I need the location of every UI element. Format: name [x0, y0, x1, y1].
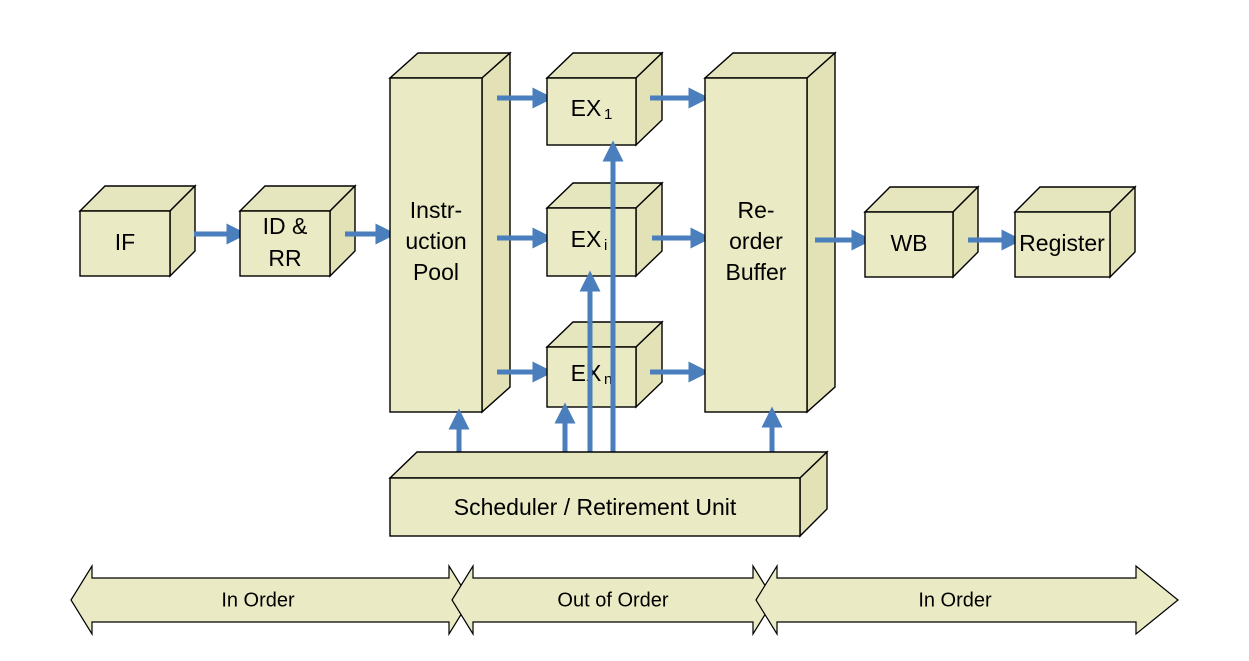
stage-box-wb[interactable]: WB: [865, 187, 978, 277]
band-middle-label: Out of Order: [557, 589, 668, 611]
pipeline-diagram: IF ID & RR Instr- uction Pool EX 1 EX: [0, 0, 1249, 661]
instr-pool-label-line-2: uction: [405, 228, 466, 254]
order-band-segment-in-order-left: In Order: [71, 566, 470, 634]
ex-1-label: EX: [571, 95, 602, 121]
band-left-label: In Order: [221, 589, 295, 611]
stage-box-if[interactable]: IF: [80, 186, 195, 276]
ex-1-label-subscript: 1: [604, 106, 612, 123]
wb-label: WB: [890, 230, 927, 256]
pipeline-diagram-canvas: IF ID & RR Instr- uction Pool EX 1 EX: [0, 0, 1249, 661]
stage-box-id-rr[interactable]: ID & RR: [240, 186, 355, 276]
instr-pool-side-face: [482, 53, 510, 412]
register-label: Register: [1019, 230, 1105, 256]
ex-i-label: EX: [571, 226, 602, 252]
instr-pool-label-line-1: Instr-: [410, 197, 462, 223]
band-right-label: In Order: [918, 589, 992, 611]
ex-i-label-subscript: i: [604, 237, 607, 254]
order-band-segment-in-order-right: In Order: [756, 566, 1178, 634]
stage-box-scheduler[interactable]: Scheduler / Retirement Unit: [390, 452, 827, 536]
reorder-buffer-label-line-3: Buffer: [726, 259, 787, 285]
scheduler-top-face: [390, 452, 827, 478]
stage-box-instruction-pool[interactable]: Instr- uction Pool: [390, 53, 510, 412]
stage-box-register[interactable]: Register: [1015, 187, 1135, 277]
instr-pool-label-line-3: Pool: [413, 259, 459, 285]
id-rr-label-line-1: ID &: [263, 213, 308, 239]
ex-n-label: EX: [571, 360, 602, 386]
reorder-buffer-side-face: [807, 53, 835, 412]
order-band-segment-out-of-order: Out of Order: [452, 566, 774, 634]
reorder-buffer-label-line-2: order: [729, 228, 783, 254]
reorder-buffer-label-line-1: Re-: [737, 197, 774, 223]
scheduler-label: Scheduler / Retirement Unit: [454, 494, 737, 520]
stage-box-ex-i[interactable]: EX i: [547, 183, 662, 276]
stage-box-ex-n[interactable]: EX n: [547, 322, 662, 407]
id-rr-label-line-2: RR: [268, 245, 301, 271]
if-label: IF: [115, 229, 135, 255]
stage-box-reorder-buffer[interactable]: Re- order Buffer: [705, 53, 835, 412]
stage-box-ex-1[interactable]: EX 1: [547, 53, 662, 145]
